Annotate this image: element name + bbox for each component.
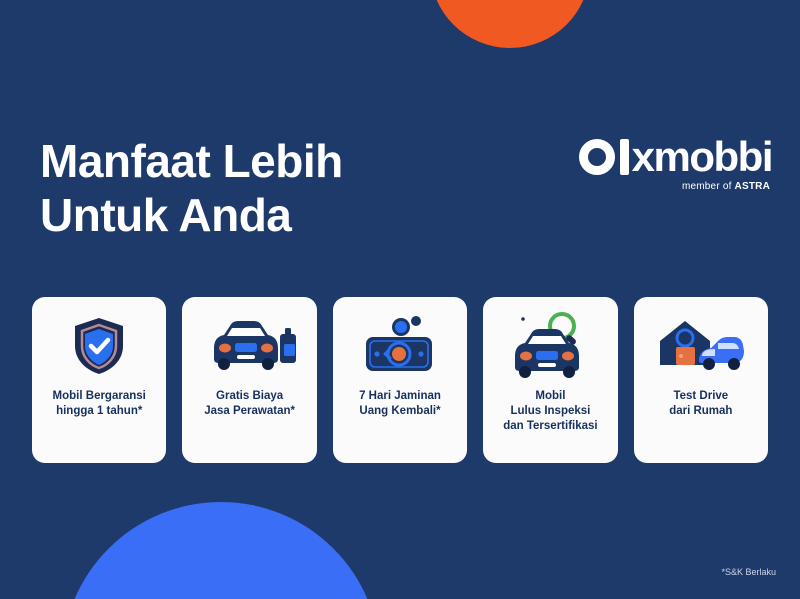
benefit-card-label: Mobil Lulus Inspeksi dan Tersertifikasi — [497, 389, 603, 434]
benefit-card-label: Gratis Biaya Jasa Perawatan* — [198, 389, 301, 419]
benefit-label-line-1: Gratis Biaya — [204, 389, 295, 404]
benefit-label-line-2: hingga 1 tahun* — [53, 404, 146, 419]
logo-member-line: member of ASTRA — [579, 181, 770, 192]
brand-logo: xmobbi member of ASTRA — [579, 136, 772, 192]
benefit-label-line-2: dari Rumah — [669, 404, 732, 419]
home-test-drive-icon — [655, 303, 747, 389]
orange-circle-decoration — [430, 0, 590, 48]
logo-o-icon — [579, 139, 615, 175]
benefit-card-test-drive[interactable]: Test Drive dari Rumah — [634, 297, 768, 463]
logo-text: xmobbi — [632, 139, 772, 175]
benefit-card-list: Mobil Bergaransi hingga 1 tahun* — [32, 297, 768, 463]
benefit-card-warranty[interactable]: Mobil Bergaransi hingga 1 tahun* — [32, 297, 166, 463]
logo-member-brand: ASTRA — [735, 181, 770, 192]
shield-check-icon — [70, 303, 128, 389]
benefit-label-line-2: Uang Kembali* — [359, 404, 441, 419]
blue-circle-decoration — [62, 502, 380, 599]
car-oil-service-icon — [204, 303, 296, 389]
benefit-card-money-back[interactable]: 7 Hari Jaminan Uang Kembali* — [333, 297, 467, 463]
benefit-card-label: Test Drive dari Rumah — [663, 389, 738, 419]
headline-line-2: Untuk Anda — [40, 188, 343, 242]
benefit-label-line-1: Mobil Bergaransi — [53, 389, 146, 404]
car-inspection-icon — [507, 303, 593, 389]
benefit-label-line-1: Mobil — [503, 389, 597, 404]
logo-member-prefix: member of — [682, 181, 735, 192]
benefit-label-line-2: Lulus Inspeksi — [503, 404, 597, 419]
benefit-label-line-1: 7 Hari Jaminan — [359, 389, 441, 404]
benefit-card-free-service[interactable]: Gratis Biaya Jasa Perawatan* — [182, 297, 316, 463]
promo-poster: Manfaat Lebih Untuk Anda xmobbi member o… — [0, 0, 800, 599]
benefit-label-line-1: Test Drive — [669, 389, 732, 404]
benefit-label-line-2: Jasa Perawatan* — [204, 404, 295, 419]
benefit-label-line-3: dan Tersertifikasi — [503, 419, 597, 434]
money-back-icon — [358, 303, 442, 389]
headline-line-1: Manfaat Lebih — [40, 134, 343, 188]
logo-bar-icon — [620, 139, 629, 175]
terms-note: *S&K Berlaku — [721, 567, 776, 577]
page-title: Manfaat Lebih Untuk Anda — [40, 134, 343, 242]
benefit-card-label: Mobil Bergaransi hingga 1 tahun* — [47, 389, 152, 419]
benefit-card-label: 7 Hari Jaminan Uang Kembali* — [353, 389, 447, 419]
benefit-card-inspection[interactable]: Mobil Lulus Inspeksi dan Tersertifikasi — [483, 297, 617, 463]
logo-wordmark: xmobbi — [579, 136, 772, 178]
